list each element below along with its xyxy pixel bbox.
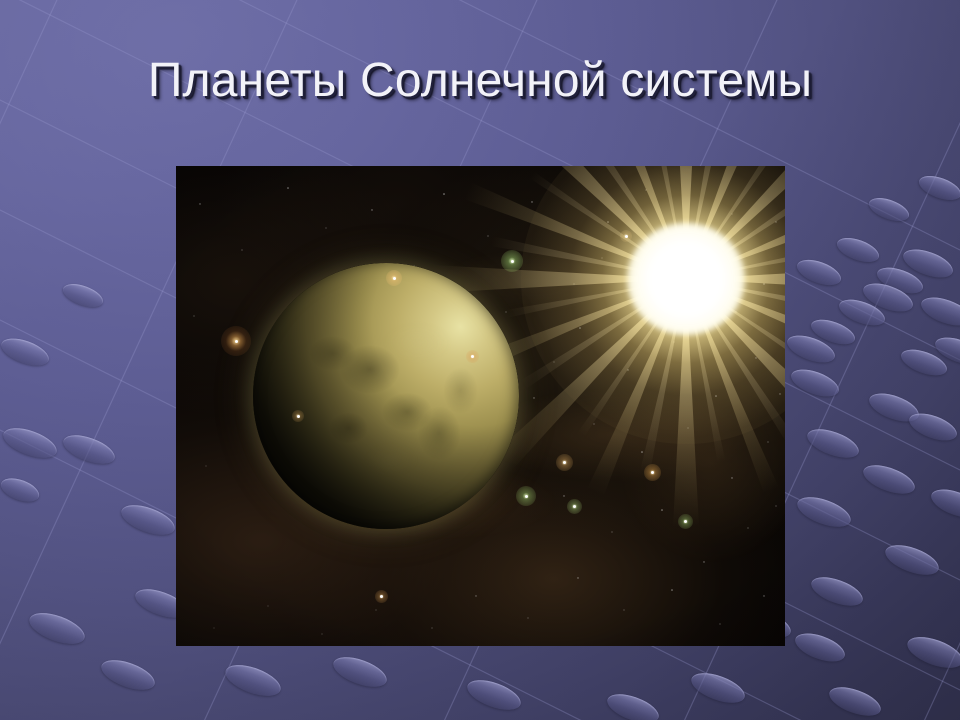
presentation-slide: Планеты Солнечной системы <box>0 0 960 720</box>
slide-image-space-photo <box>176 166 785 646</box>
image-vignette <box>176 166 785 646</box>
slide-title: Планеты Солнечной системы <box>0 52 960 110</box>
